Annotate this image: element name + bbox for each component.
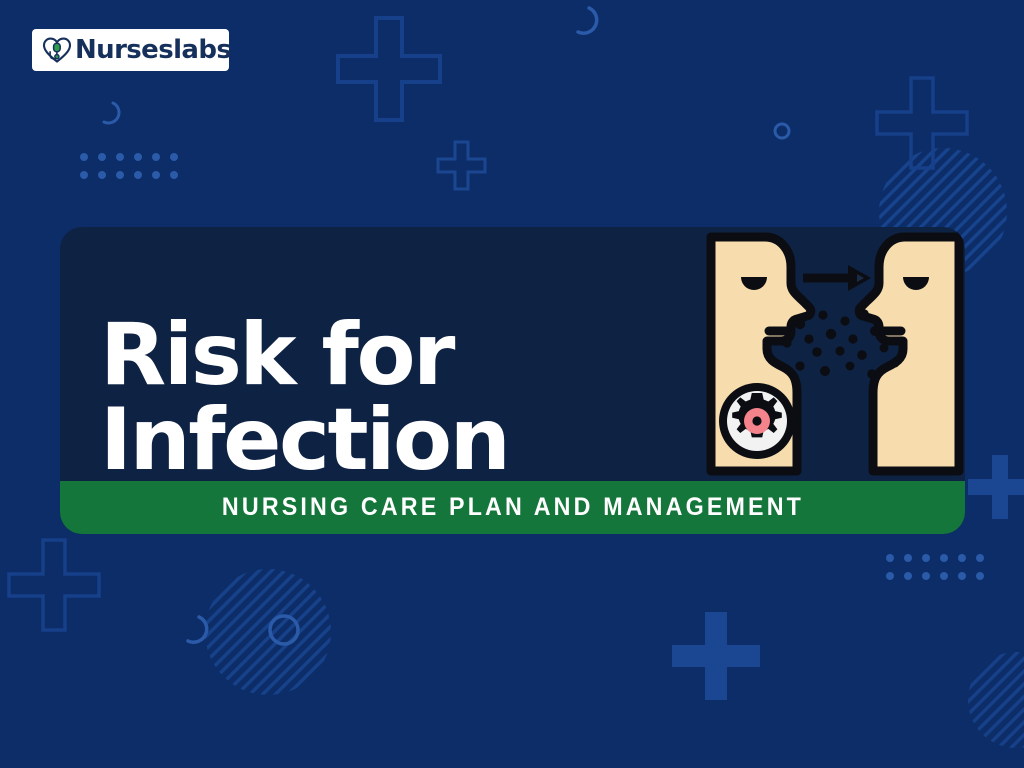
card-body: Risk for Infection [60,227,965,481]
nurseslabs-logo[interactable]: Nurseslabs [32,29,229,71]
right-face-icon [859,237,959,471]
striped-circle-decor [968,652,1024,748]
page-title: Risk for Infection [100,313,660,483]
plus-decor [968,455,1024,519]
arc-decor [188,617,207,642]
heart-stethoscope-icon [41,34,73,66]
banner-label: NURSING CARE PLAN AND MANAGEMENT [221,493,803,522]
poster-canvas: Nurseslabs Risk for Infection [0,0,1024,768]
arc-decor [578,8,597,33]
logo-wordmark: Nurseslabs [75,37,231,63]
dot-grid-decor [886,554,984,580]
circle-outline-decor [270,616,298,644]
subtitle-banner: NURSING CARE PLAN AND MANAGEMENT [60,481,965,534]
airborne-transmission-illustration [705,227,965,481]
plus-decor [338,18,440,120]
transmission-arrow-icon [803,265,871,291]
plus-decor [877,78,967,168]
plus-decor [672,612,760,700]
title-card: Risk for Infection [60,227,965,534]
plus-decor [438,142,485,189]
circle-outline-decor [775,124,789,138]
striped-circle-decor [205,569,331,695]
dot-grid-decor [80,153,178,179]
arc-decor [104,103,119,123]
virus-badge-icon [719,383,795,459]
title-line-2: Infection [100,398,660,483]
plus-decor [9,540,99,630]
